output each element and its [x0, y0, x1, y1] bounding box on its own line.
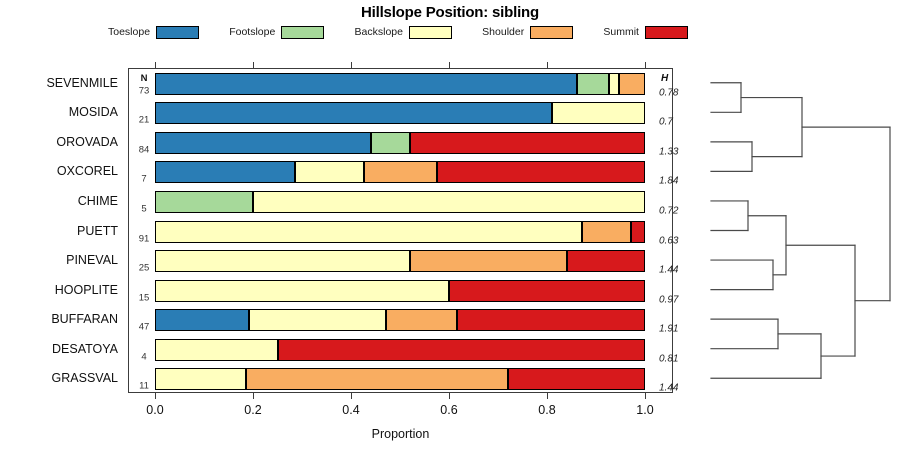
legend-item-footslope[interactable]: Footslope [229, 26, 324, 39]
bar-row [129, 250, 674, 272]
bar-row [129, 309, 674, 331]
x-axis-tick-label: 0.4 [342, 403, 359, 417]
legend: ToeslopeFootslopeBackslopeShoulderSummit [108, 22, 688, 42]
x-axis-tick [253, 393, 254, 399]
x-axis-tick [547, 393, 548, 399]
legend-swatch-footslope [281, 26, 324, 39]
legend-item-toeslope[interactable]: Toeslope [108, 26, 199, 39]
bar-segment-toeslope[interactable] [155, 309, 248, 331]
bar-row [129, 191, 674, 213]
bar-segment-backslope[interactable] [155, 221, 581, 243]
x-axis-tick [155, 393, 156, 399]
bar-segment-summit[interactable] [449, 280, 645, 302]
legend-item-backslope[interactable]: Backslope [355, 26, 452, 39]
legend-label: Backslope [355, 26, 403, 38]
bar-segment-backslope[interactable] [249, 309, 386, 331]
legend-label: Summit [603, 26, 639, 38]
x-axis-tick [449, 393, 450, 399]
bar-row [129, 368, 674, 390]
bar-segment-footslope[interactable] [577, 73, 609, 95]
bar-segment-summit[interactable] [410, 132, 645, 154]
bar-segment-toeslope[interactable] [155, 73, 576, 95]
row-label-desatoya[interactable]: DESATOYA [52, 342, 118, 356]
row-label-orovada[interactable]: OROVADA [56, 135, 118, 149]
bar-segment-backslope[interactable] [295, 161, 364, 183]
x-axis-tick [645, 393, 646, 399]
bar-segment-backslope[interactable] [609, 73, 619, 95]
bar-segment-shoulder[interactable] [582, 221, 631, 243]
bar-segment-summit[interactable] [457, 309, 646, 331]
row-label-hooplite[interactable]: HOOPLITE [55, 283, 118, 297]
bar-segment-backslope[interactable] [155, 280, 449, 302]
bar-segment-toeslope[interactable] [155, 132, 371, 154]
bar-segment-shoulder[interactable] [410, 250, 567, 272]
x-axis-tick-top [547, 62, 548, 68]
x-axis-tick-label: 0.8 [538, 403, 555, 417]
n-value: 84 [131, 144, 157, 155]
bar-row [129, 132, 674, 154]
n-value: 15 [131, 292, 157, 303]
bar-segment-backslope[interactable] [253, 191, 645, 213]
bar-segment-toeslope[interactable] [155, 161, 295, 183]
n-value: 7 [131, 174, 157, 185]
row-label-chime[interactable]: CHIME [78, 194, 118, 208]
bar-segment-footslope[interactable] [155, 191, 253, 213]
legend-swatch-toeslope [156, 26, 199, 39]
x-axis-tick-top [449, 62, 450, 68]
x-axis-tick-top [351, 62, 352, 68]
bar-segment-summit[interactable] [278, 339, 646, 361]
row-label-column: SEVENMILEMOSIDAOROVADAOXCORELCHIMEPUETTP… [0, 68, 124, 393]
legend-label: Shoulder [482, 26, 524, 38]
bar-row [129, 221, 674, 243]
dendrogram [690, 60, 900, 405]
x-axis-tick-label: 0.6 [440, 403, 457, 417]
dendrogram-svg [690, 60, 900, 405]
chart-title: Hillslope Position: sibling [0, 4, 900, 21]
x-axis-tick-top [645, 62, 646, 68]
row-label-mosida[interactable]: MOSIDA [69, 105, 118, 119]
bar-row [129, 339, 674, 361]
legend-swatch-shoulder [530, 26, 573, 39]
bar-segment-summit[interactable] [631, 221, 646, 243]
x-axis-tick-label: 0.2 [244, 403, 261, 417]
bar-segment-backslope[interactable] [155, 368, 246, 390]
bar-row [129, 73, 674, 95]
bar-segment-summit[interactable] [567, 250, 645, 272]
n-value: 25 [131, 263, 157, 274]
bar-segment-summit[interactable] [508, 368, 645, 390]
bar-row [129, 280, 674, 302]
row-label-puett[interactable]: PUETT [77, 224, 118, 238]
plot-panel: N7321847591251547411H0.780.71.331.840.72… [128, 68, 673, 393]
row-label-sevenmile[interactable]: SEVENMILE [46, 76, 118, 90]
x-axis-tick [351, 393, 352, 399]
n-value: 11 [131, 381, 157, 392]
legend-swatch-backslope [409, 26, 452, 39]
x-axis-tick-top [253, 62, 254, 68]
bar-row [129, 161, 674, 183]
row-label-grassval[interactable]: GRASSVAL [52, 371, 118, 385]
bar-segment-backslope[interactable] [552, 102, 645, 124]
row-label-oxcorel[interactable]: OXCOREL [57, 164, 118, 178]
bar-row [129, 102, 674, 124]
row-label-buffaran[interactable]: BUFFARAN [51, 312, 118, 326]
n-value: 5 [131, 203, 157, 214]
bar-segment-backslope[interactable] [155, 339, 278, 361]
x-axis-title: Proportion [128, 427, 673, 441]
bar-segment-summit[interactable] [437, 161, 645, 183]
bar-segment-shoulder[interactable] [364, 161, 438, 183]
bar-segment-backslope[interactable] [155, 250, 410, 272]
bar-segment-shoulder[interactable] [386, 309, 457, 331]
bar-segment-toeslope[interactable] [155, 102, 552, 124]
legend-label: Footslope [229, 26, 275, 38]
figure-root: Hillslope Position: sibling ToeslopeFoot… [0, 0, 900, 460]
bar-segment-footslope[interactable] [371, 132, 410, 154]
legend-item-summit[interactable]: Summit [603, 26, 688, 39]
x-axis-tick-top [155, 62, 156, 68]
n-value: 91 [131, 233, 157, 244]
bar-segment-shoulder[interactable] [246, 368, 508, 390]
n-column-header: N [131, 73, 157, 84]
x-axis-tick-label: 1.0 [636, 403, 653, 417]
n-value: 47 [131, 322, 157, 333]
row-label-pineval[interactable]: PINEVAL [66, 253, 118, 267]
n-value: 4 [131, 351, 157, 362]
legend-label: Toeslope [108, 26, 150, 38]
legend-swatch-summit [645, 26, 688, 39]
n-value: 73 [131, 85, 157, 96]
n-value: 21 [131, 115, 157, 126]
bar-segment-shoulder[interactable] [619, 73, 646, 95]
legend-item-shoulder[interactable]: Shoulder [482, 26, 573, 39]
x-axis-tick-label: 0.0 [146, 403, 163, 417]
